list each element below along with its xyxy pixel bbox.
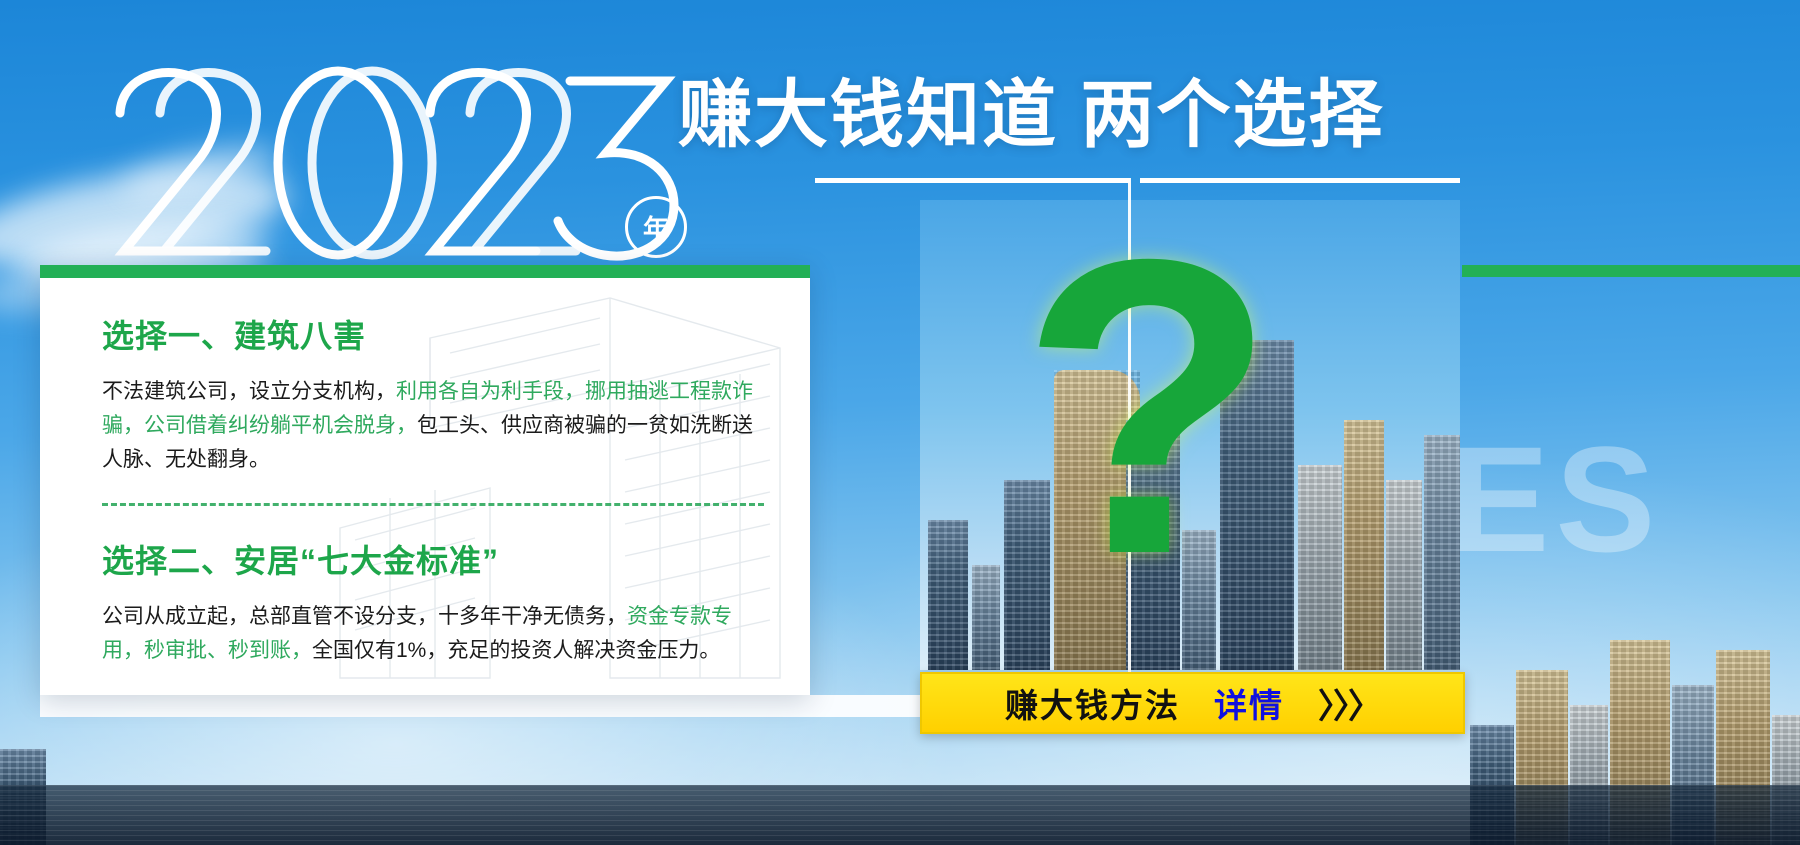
- question-mark-graphic: ?: [1020, 198, 1277, 618]
- cta-banner[interactable]: 赚大钱方法 详情 〉〉〉: [920, 672, 1465, 734]
- page-title: 赚大钱知道 两个选择: [678, 78, 1385, 152]
- year-suffix-badge: 年: [625, 196, 687, 258]
- section-title-two: 选择二、安居“七大金标准”: [102, 536, 764, 582]
- section-body-one: 不法建筑公司，设立分支机构，利用各自为利手段，挪用抽逃工程款诈骗，公司借着纠纷躺…: [102, 375, 764, 477]
- cta-detail-link[interactable]: 详情: [1214, 679, 1284, 727]
- content-card: 选择一、建筑八害 不法建筑公司，设立分支机构，利用各自为利手段，挪用抽逃工程款诈…: [40, 265, 810, 695]
- green-accent-bar: [1462, 265, 1800, 277]
- section-title-one: 选择一、建筑八害: [102, 311, 764, 357]
- card-content: 选择一、建筑八害 不法建筑公司，设立分支机构，利用各自为利手段，挪用抽逃工程款诈…: [40, 265, 810, 668]
- body-span: 不法建筑公司，设立分支机构，: [102, 380, 396, 403]
- water-reflection: [0, 785, 1800, 845]
- chevron-right-icon: 〉〉〉: [1318, 679, 1380, 728]
- section-divider: [102, 503, 764, 506]
- body-span: 全国仅有1%，充足的投资人解决资金压力。: [312, 639, 720, 662]
- cta-main-label: 赚大钱方法: [1005, 679, 1180, 727]
- poster-canvas: TWO CHOICES ?: [0, 0, 1800, 845]
- section-body-two: 公司从成立起，总部直管不设分支，十多年干净无债务，资金专款专用，秒审批、秒到账，…: [102, 600, 764, 668]
- body-span: 公司从成立起，总部直管不设分支，十多年干净无债务，: [102, 605, 627, 628]
